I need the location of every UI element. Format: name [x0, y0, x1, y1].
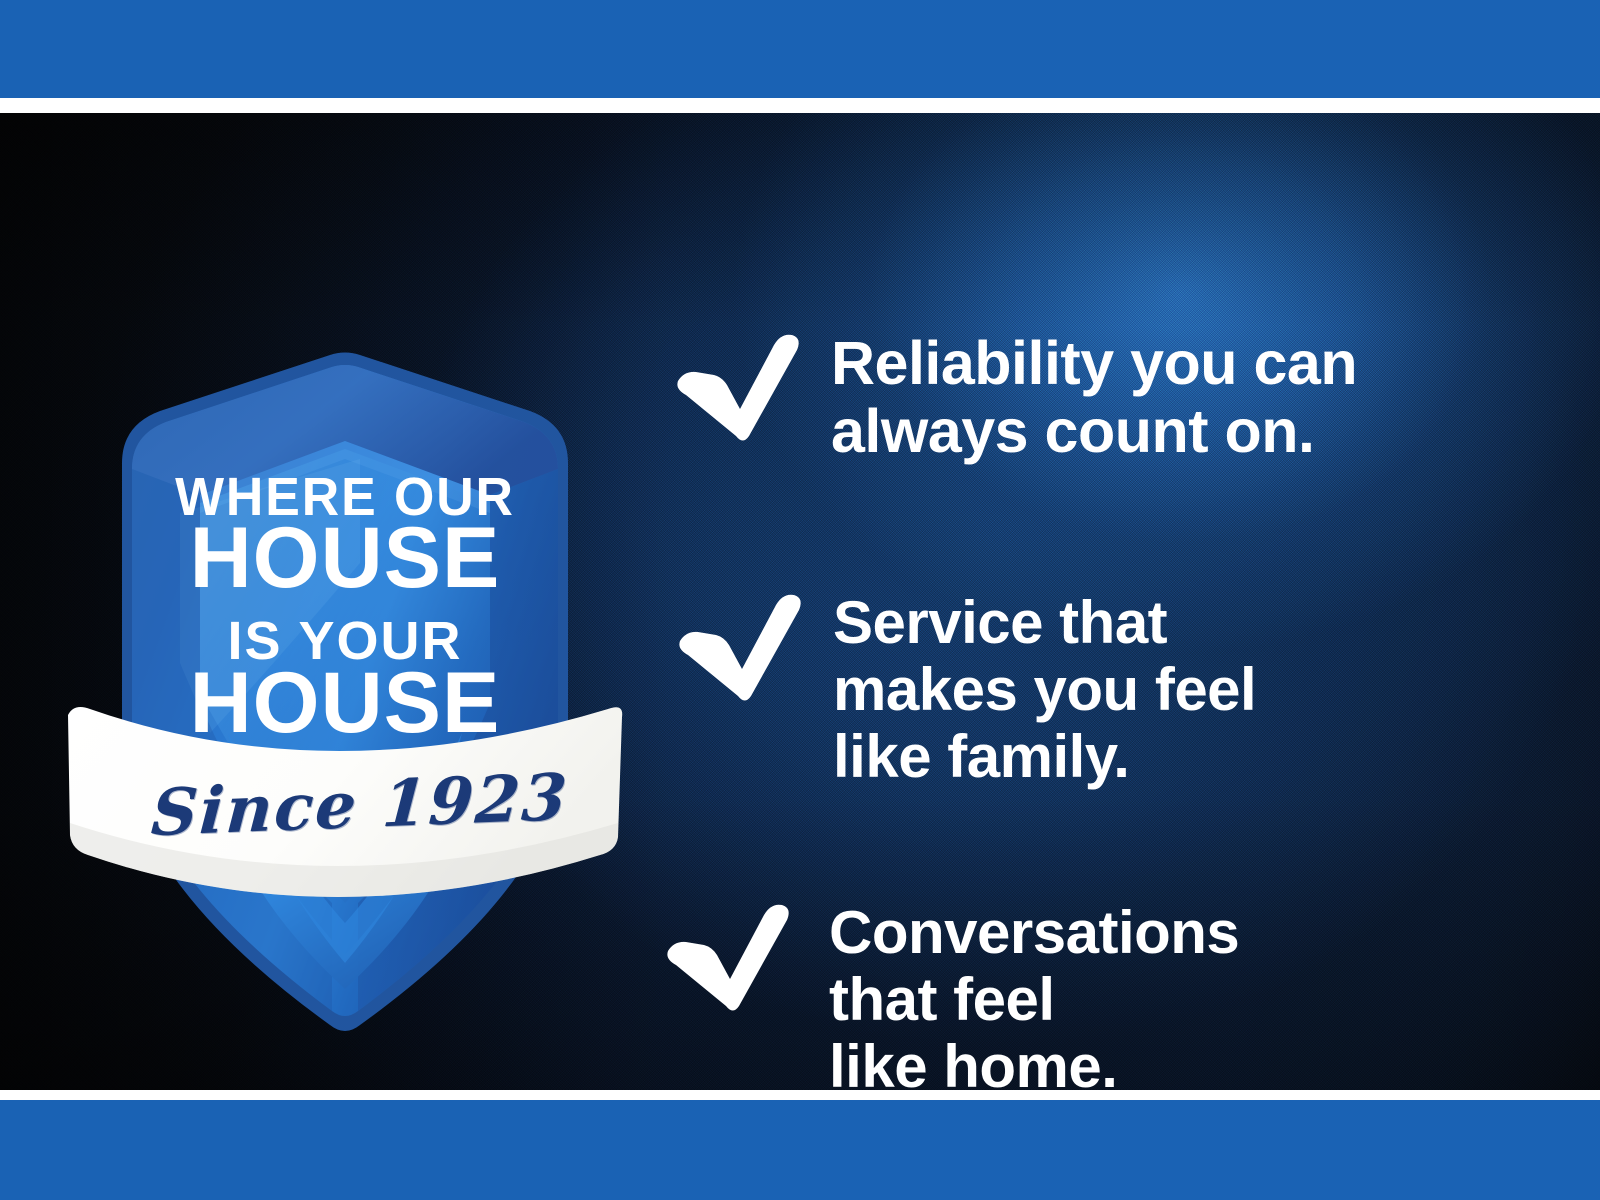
benefit-item-1: Reliability you can always count on. — [670, 323, 1357, 466]
top-brand-bar — [0, 0, 1600, 98]
bottom-brand-bar — [0, 1100, 1600, 1200]
benefit-item-3: Conversations that feel like home. — [660, 893, 1239, 1090]
benefit-text-1: Reliability you can always count on. — [831, 323, 1357, 466]
poster-stage: WHERE OUR HOUSE IS YOUR HOUSE Since 1923… — [0, 113, 1600, 1090]
promo-poster: WHERE OUR HOUSE IS YOUR HOUSE Since 1923… — [0, 0, 1600, 1200]
shield-logo: WHERE OUR HOUSE IS YOUR HOUSE Since 1923 — [60, 263, 630, 1053]
checkmark-icon — [660, 893, 795, 1013]
checkmark-icon — [670, 323, 805, 443]
benefit-text-2: Service that makes you feel like family. — [833, 583, 1256, 791]
checkmark-icon — [672, 583, 807, 703]
shield-tagline-line-2: HOUSE — [100, 518, 590, 600]
shield-tagline-line-4: HOUSE — [100, 663, 590, 745]
benefit-text-3: Conversations that feel like home. — [829, 893, 1239, 1090]
benefit-item-2: Service that makes you feel like family. — [672, 583, 1256, 791]
